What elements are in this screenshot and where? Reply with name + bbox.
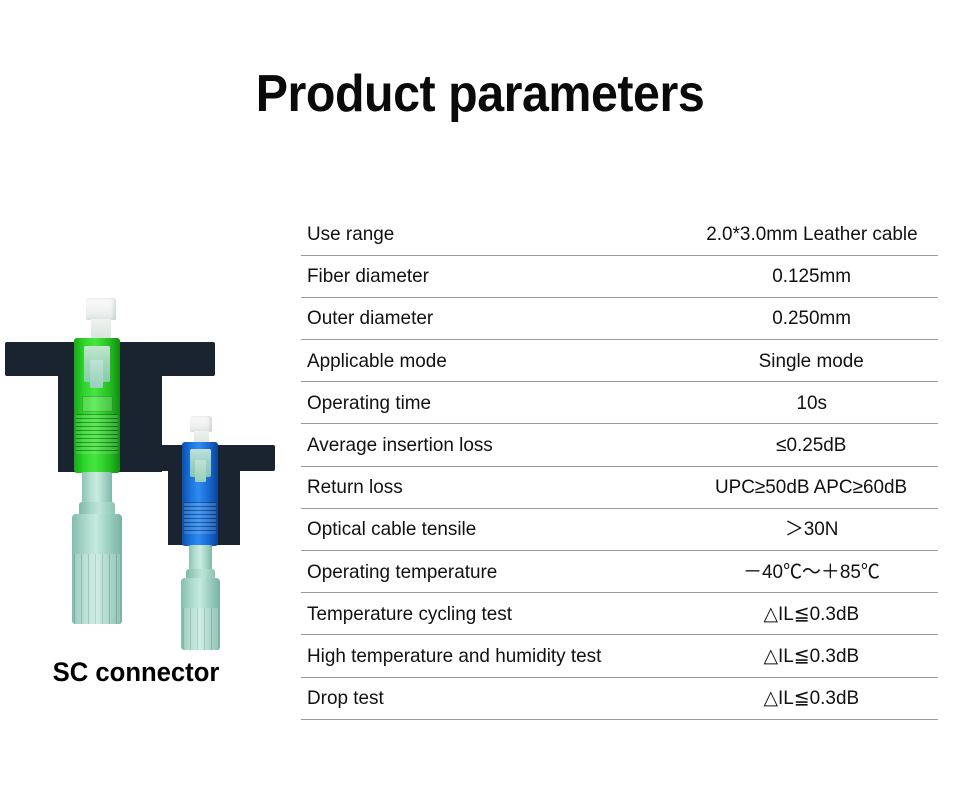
table-row: Optical cable tensile ＞30N bbox=[301, 508, 938, 550]
spec-label-cell: Average insertion loss bbox=[301, 424, 685, 466]
green-boot-neck bbox=[82, 472, 112, 504]
product-caption: SC connector bbox=[7, 655, 265, 689]
table-row: Operating temperature －40℃～＋85℃ bbox=[301, 551, 938, 593]
table-row: Average insertion loss ≤0.25dB bbox=[301, 424, 938, 466]
spec-label-cell: Applicable mode bbox=[301, 340, 685, 382]
spec-value-cell: －40℃～＋85℃ bbox=[685, 551, 938, 593]
page-title: Product parameters bbox=[34, 64, 927, 124]
specification-table: Use range 2.0*3.0mm Leather cable Fiber … bbox=[301, 213, 938, 720]
blue-latch-tab bbox=[195, 460, 206, 482]
green-boot-flutes bbox=[74, 554, 120, 624]
product-parameters-page: Product parameters bbox=[0, 0, 960, 804]
spec-value-cell: 2.0*3.0mm Leather cable bbox=[685, 213, 938, 255]
specification-table-body: Use range 2.0*3.0mm Leather cable Fiber … bbox=[301, 213, 938, 719]
spec-value-cell: △IL≦0.3dB bbox=[685, 635, 938, 677]
table-row: Drop test △IL≦0.3dB bbox=[301, 677, 938, 719]
blue-boot-neck bbox=[189, 545, 212, 571]
table-row: Applicable mode Single mode bbox=[301, 340, 938, 382]
spec-label-cell: High temperature and humidity test bbox=[301, 635, 685, 677]
spec-value-cell: △IL≦0.3dB bbox=[685, 593, 938, 635]
blue-grip-ribs bbox=[184, 502, 216, 534]
product-image bbox=[0, 290, 290, 700]
table-row: Use range 2.0*3.0mm Leather cable bbox=[301, 213, 938, 255]
table-row: Operating time 10s bbox=[301, 382, 938, 424]
spec-value-cell: UPC≥50dB APC≥60dB bbox=[685, 466, 938, 508]
spec-value-cell: 0.125mm bbox=[685, 255, 938, 297]
spec-label-cell: Return loss bbox=[301, 466, 685, 508]
blue-dust-cap bbox=[190, 416, 212, 432]
table-row: Fiber diameter 0.125mm bbox=[301, 255, 938, 297]
table-row: Outer diameter 0.250mm bbox=[301, 297, 938, 339]
spec-label-cell: Temperature cycling test bbox=[301, 593, 685, 635]
table-row: Return loss UPC≥50dB APC≥60dB bbox=[301, 466, 938, 508]
spec-value-cell: △IL≦0.3dB bbox=[685, 677, 938, 719]
green-grip-ribs bbox=[76, 414, 118, 454]
table-row: High temperature and humidity test △IL≦0… bbox=[301, 635, 938, 677]
spec-label-cell: Operating time bbox=[301, 382, 685, 424]
spec-label-cell: Fiber diameter bbox=[301, 255, 685, 297]
green-latch-tab bbox=[90, 360, 103, 388]
green-dust-cap bbox=[86, 298, 116, 320]
spec-value-cell: 10s bbox=[685, 382, 938, 424]
spec-label-cell: Outer diameter bbox=[301, 297, 685, 339]
spec-label-cell: Optical cable tensile bbox=[301, 508, 685, 550]
spec-label-cell: Operating temperature bbox=[301, 551, 685, 593]
spec-label-cell: Use range bbox=[301, 213, 685, 255]
spec-value-cell: 0.250mm bbox=[685, 297, 938, 339]
spec-label-cell: Drop test bbox=[301, 677, 685, 719]
spec-value-cell: ＞30N bbox=[685, 508, 938, 550]
blue-boot-flutes bbox=[183, 608, 218, 650]
green-label-plate bbox=[82, 396, 113, 412]
table-row: Temperature cycling test △IL≦0.3dB bbox=[301, 593, 938, 635]
spec-value-cell: ≤0.25dB bbox=[685, 424, 938, 466]
spec-value-cell: Single mode bbox=[685, 340, 938, 382]
